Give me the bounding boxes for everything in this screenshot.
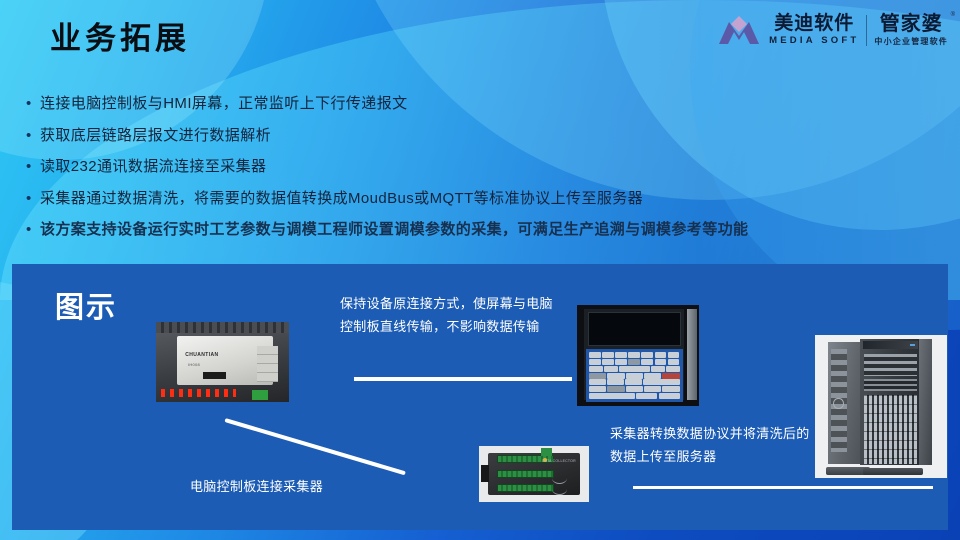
- slide-root: 业务拓展 美迪软件 MEDIA SOFT ® 管家婆 中小企业管理软件 • 连接…: [0, 0, 960, 540]
- media-soft-m-logo-icon: [717, 14, 761, 46]
- list-item: • 连接电脑控制板与HMI屏幕，正常监听上下行传递报文: [24, 93, 944, 115]
- data-collector-module-photo: DATA COLLECTOR: [479, 446, 589, 502]
- underline-hmi-annotation: [354, 377, 572, 381]
- bullet-text: 获取底层链路层报文进行数据解析: [40, 125, 271, 147]
- logo-brand-en: MEDIA SOFT: [769, 36, 859, 46]
- tower-server-photo: [815, 335, 947, 478]
- logo-brand-cn: 美迪软件: [774, 14, 854, 33]
- bullet-marker-icon: •: [24, 125, 40, 147]
- bullet-marker-icon: •: [24, 93, 40, 115]
- logo-divider: [866, 15, 867, 46]
- bullet-text: 连接电脑控制板与HMI屏幕，正常监听上下行传递报文: [40, 93, 408, 115]
- bullet-marker-icon: •: [24, 188, 40, 210]
- industrial-controller-board-photo: CHUANTIAN IH008: [156, 322, 289, 402]
- bullet-marker-icon: •: [24, 156, 40, 178]
- list-item: • 读取232通讯数据流连接至采集器: [24, 156, 944, 178]
- annotation-board-to-collector: 电脑控制板连接采集器: [190, 476, 323, 499]
- collector-label-text: DATA COLLECTOR: [542, 459, 576, 463]
- page-title: 业务拓展: [50, 22, 190, 56]
- bullet-marker-icon: •: [24, 219, 40, 241]
- hmi-operator-panel-photo: [577, 305, 699, 406]
- list-item: • 该方案支持设备运行实时工艺参数与调模工程师设置调模参数的采集，可满足生产追溯…: [24, 219, 944, 241]
- list-item: • 获取底层链路层报文进行数据解析: [24, 125, 944, 147]
- logo-product-cn: 管家婆: [880, 14, 943, 34]
- bullet-text: 采集器通过数据清洗，将需要的数据值转换成MoudBus或MQTT等标准协议上传至…: [40, 188, 643, 210]
- annotation-server-upload: 采集器转换数据协议并将清洗后的数据上传至服务器: [610, 423, 810, 468]
- bullet-text: 读取232通讯数据流连接至采集器: [40, 156, 266, 178]
- brand-logo: 美迪软件 MEDIA SOFT ® 管家婆 中小企业管理软件: [717, 8, 948, 52]
- bullet-text: 该方案支持设备运行实时工艺参数与调模工程师设置调模参数的采集，可满足生产追溯与调…: [40, 219, 748, 241]
- underline-server-annotation: [633, 486, 933, 489]
- diagram-card: 图示 CHUANTIAN IH008: [12, 264, 948, 530]
- bullet-list: • 连接电脑控制板与HMI屏幕，正常监听上下行传递报文 • 获取底层链路层报文进…: [24, 93, 944, 251]
- registered-mark-icon: ®: [951, 12, 955, 18]
- logo-product-sub: 中小企业管理软件: [874, 38, 948, 46]
- diagram-label: 图示: [55, 286, 117, 331]
- list-item: • 采集器通过数据清洗，将需要的数据值转换成MoudBus或MQTT等标准协议上…: [24, 188, 944, 210]
- board-brand-text: CHUANTIAN: [185, 352, 218, 358]
- annotation-hmi-connection: 保持设备原连接方式，使屏幕与电脑控制板直线传输，不影响数据传输: [340, 293, 555, 338]
- board-model-text: IH008: [188, 362, 200, 367]
